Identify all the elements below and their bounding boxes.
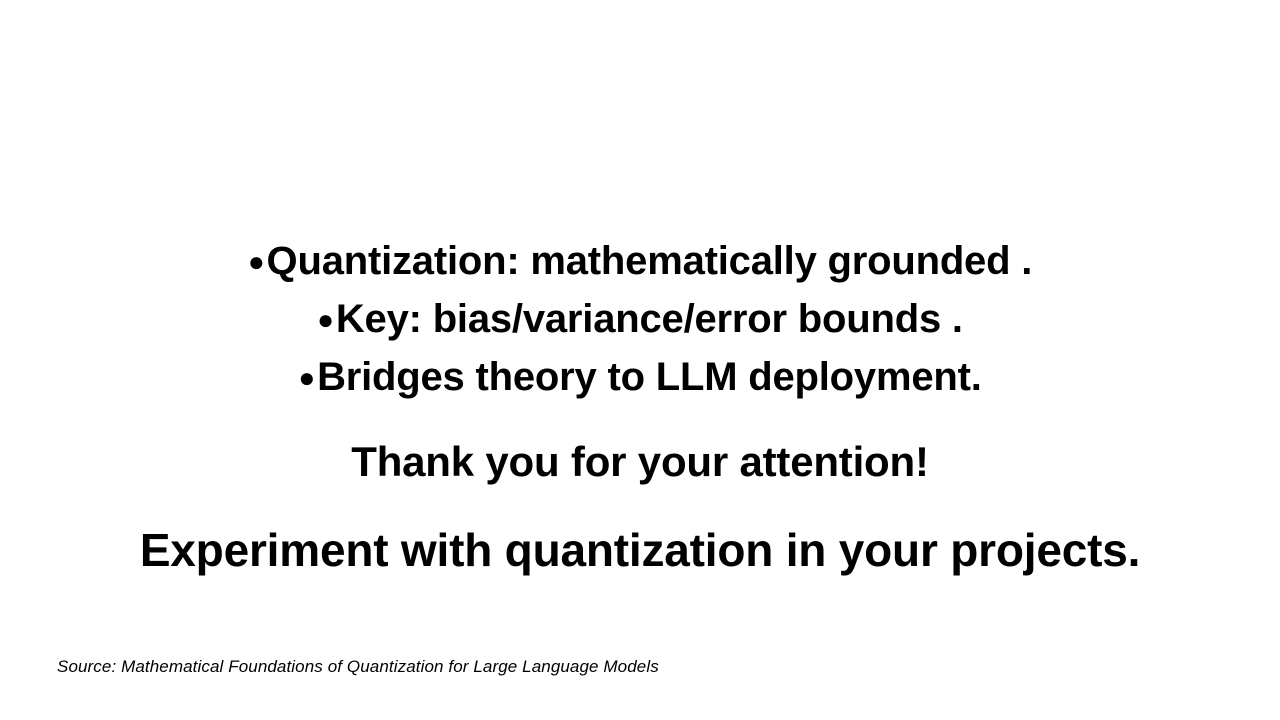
source-citation: Source: Mathematical Foundations of Quan… [57, 657, 659, 677]
list-item: ●Bridges theory to LLM deployment. [0, 348, 1280, 406]
summary-bullet-list: ●Quantization: mathematically grounded .… [0, 232, 1280, 406]
bullet-dot-icon: ● [317, 304, 334, 335]
bullet-dot-icon: ● [298, 362, 315, 393]
list-item-label: Quantization: mathematically grounded . [267, 239, 1033, 283]
list-item-label: Bridges theory to LLM deployment. [317, 355, 982, 399]
bullet-dot-icon: ● [248, 246, 265, 277]
list-item: ●Quantization: mathematically grounded . [0, 232, 1280, 290]
call-to-action-line: Experiment with quantization in your pro… [0, 517, 1280, 584]
list-item: ●Key: bias/variance/error bounds . [0, 290, 1280, 348]
thank-you-line: Thank you for your attention! [0, 432, 1280, 493]
slide-content-block: ●Quantization: mathematically grounded .… [0, 232, 1280, 584]
list-item-label: Key: bias/variance/error bounds . [336, 297, 963, 341]
presentation-slide: ●Quantization: mathematically grounded .… [0, 0, 1280, 720]
